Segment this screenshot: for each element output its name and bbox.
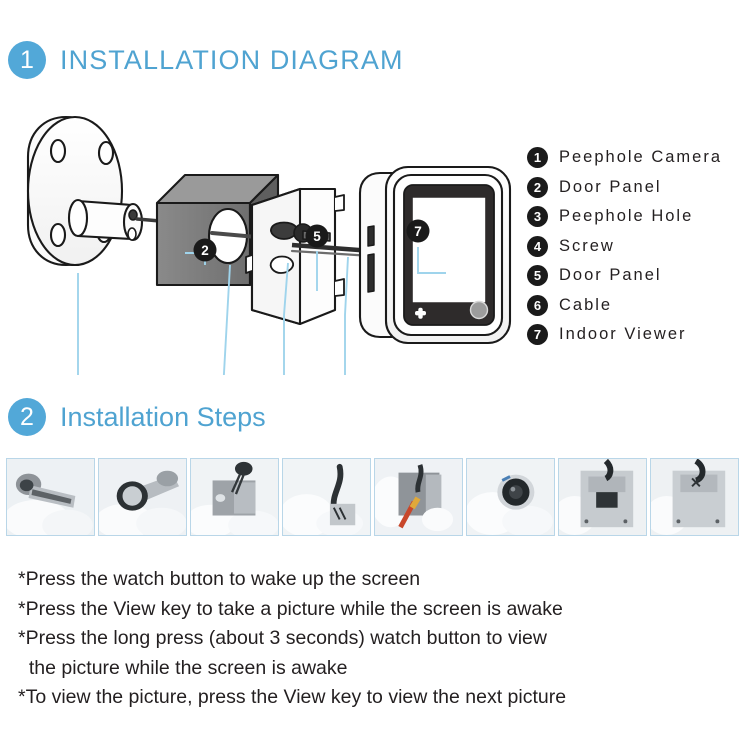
legend-label-6: Cable bbox=[559, 296, 612, 315]
step-photo-4 bbox=[282, 458, 371, 536]
note-line-4: the picture while the screen is awake bbox=[18, 654, 718, 684]
legend-label-5: Door Panel bbox=[559, 266, 662, 285]
step-photo-8 bbox=[650, 458, 739, 536]
legend-label-3: Peephole Hole bbox=[559, 207, 693, 226]
callout-marker-2: 2 bbox=[194, 239, 217, 262]
parts-legend-list: 1 Peephole Camera 2 Door Panel 3 Peephol… bbox=[527, 143, 750, 350]
mounting-plate-part bbox=[246, 189, 344, 324]
legend-item-3: 3 Peephole Hole bbox=[527, 202, 750, 232]
note-line-3: *Press the long press (about 3 seconds) … bbox=[18, 624, 718, 654]
legend-badge-2: 2 bbox=[527, 177, 548, 198]
step-photo-7 bbox=[558, 458, 647, 536]
note-line-1: *Press the watch button to wake up the s… bbox=[18, 565, 718, 595]
legend-item-4: 4 Screw bbox=[527, 232, 750, 262]
svg-text:7: 7 bbox=[414, 224, 422, 239]
legend-label-2: Door Panel bbox=[559, 178, 662, 197]
legend-badge-4: 4 bbox=[527, 236, 548, 257]
svg-text:5: 5 bbox=[313, 229, 321, 244]
step-photo-3 bbox=[190, 458, 279, 536]
legend-item-6: 6 Cable bbox=[527, 291, 750, 321]
legend-badge-1: 1 bbox=[527, 147, 548, 168]
section-title-installation-diagram: INSTALLATION DIAGRAM bbox=[60, 45, 404, 76]
section-number-badge-1: 1 bbox=[8, 41, 46, 79]
legend-label-1: Peephole Camera bbox=[559, 148, 722, 167]
legend-item-7: 7 Indoor Viewer bbox=[527, 320, 750, 350]
callout-marker-7: 7 bbox=[407, 220, 430, 243]
legend-item-2: 2 Door Panel bbox=[527, 173, 750, 203]
note-line-5: *To view the picture, press the View key… bbox=[18, 683, 718, 713]
legend-item-5: 5 Door Panel bbox=[527, 261, 750, 291]
section-title-installation-steps: Installation Steps bbox=[60, 402, 266, 433]
legend-badge-3: 3 bbox=[527, 206, 548, 227]
step-photo-1 bbox=[6, 458, 95, 536]
svg-text:2: 2 bbox=[201, 243, 209, 258]
peephole-camera-part bbox=[28, 117, 142, 265]
usage-notes-list: *Press the watch button to wake up the s… bbox=[18, 565, 718, 713]
installation-steps-photo-strip bbox=[6, 458, 744, 536]
section-header-installation-diagram: 1 INSTALLATION DIAGRAM bbox=[8, 41, 404, 79]
legend-label-7: Indoor Viewer bbox=[559, 325, 687, 344]
section-number-badge-2: 2 bbox=[8, 398, 46, 436]
callout-marker-5: 5 bbox=[306, 225, 329, 248]
legend-badge-5: 5 bbox=[527, 265, 548, 286]
legend-item-1: 1 Peephole Camera bbox=[527, 143, 750, 173]
step-photo-5 bbox=[374, 458, 463, 536]
legend-label-4: Screw bbox=[559, 237, 615, 256]
note-line-2: *Press the View key to take a picture wh… bbox=[18, 595, 718, 625]
exploded-installation-diagram: 1 2 3 4 5 6 7 bbox=[0, 105, 520, 375]
legend-badge-6: 6 bbox=[527, 295, 548, 316]
indoor-viewer-part bbox=[360, 167, 510, 343]
legend-badge-7: 7 bbox=[527, 324, 548, 345]
step-photo-2 bbox=[98, 458, 187, 536]
step-photo-6 bbox=[466, 458, 555, 536]
section-header-installation-steps: 2 Installation Steps bbox=[8, 398, 266, 436]
